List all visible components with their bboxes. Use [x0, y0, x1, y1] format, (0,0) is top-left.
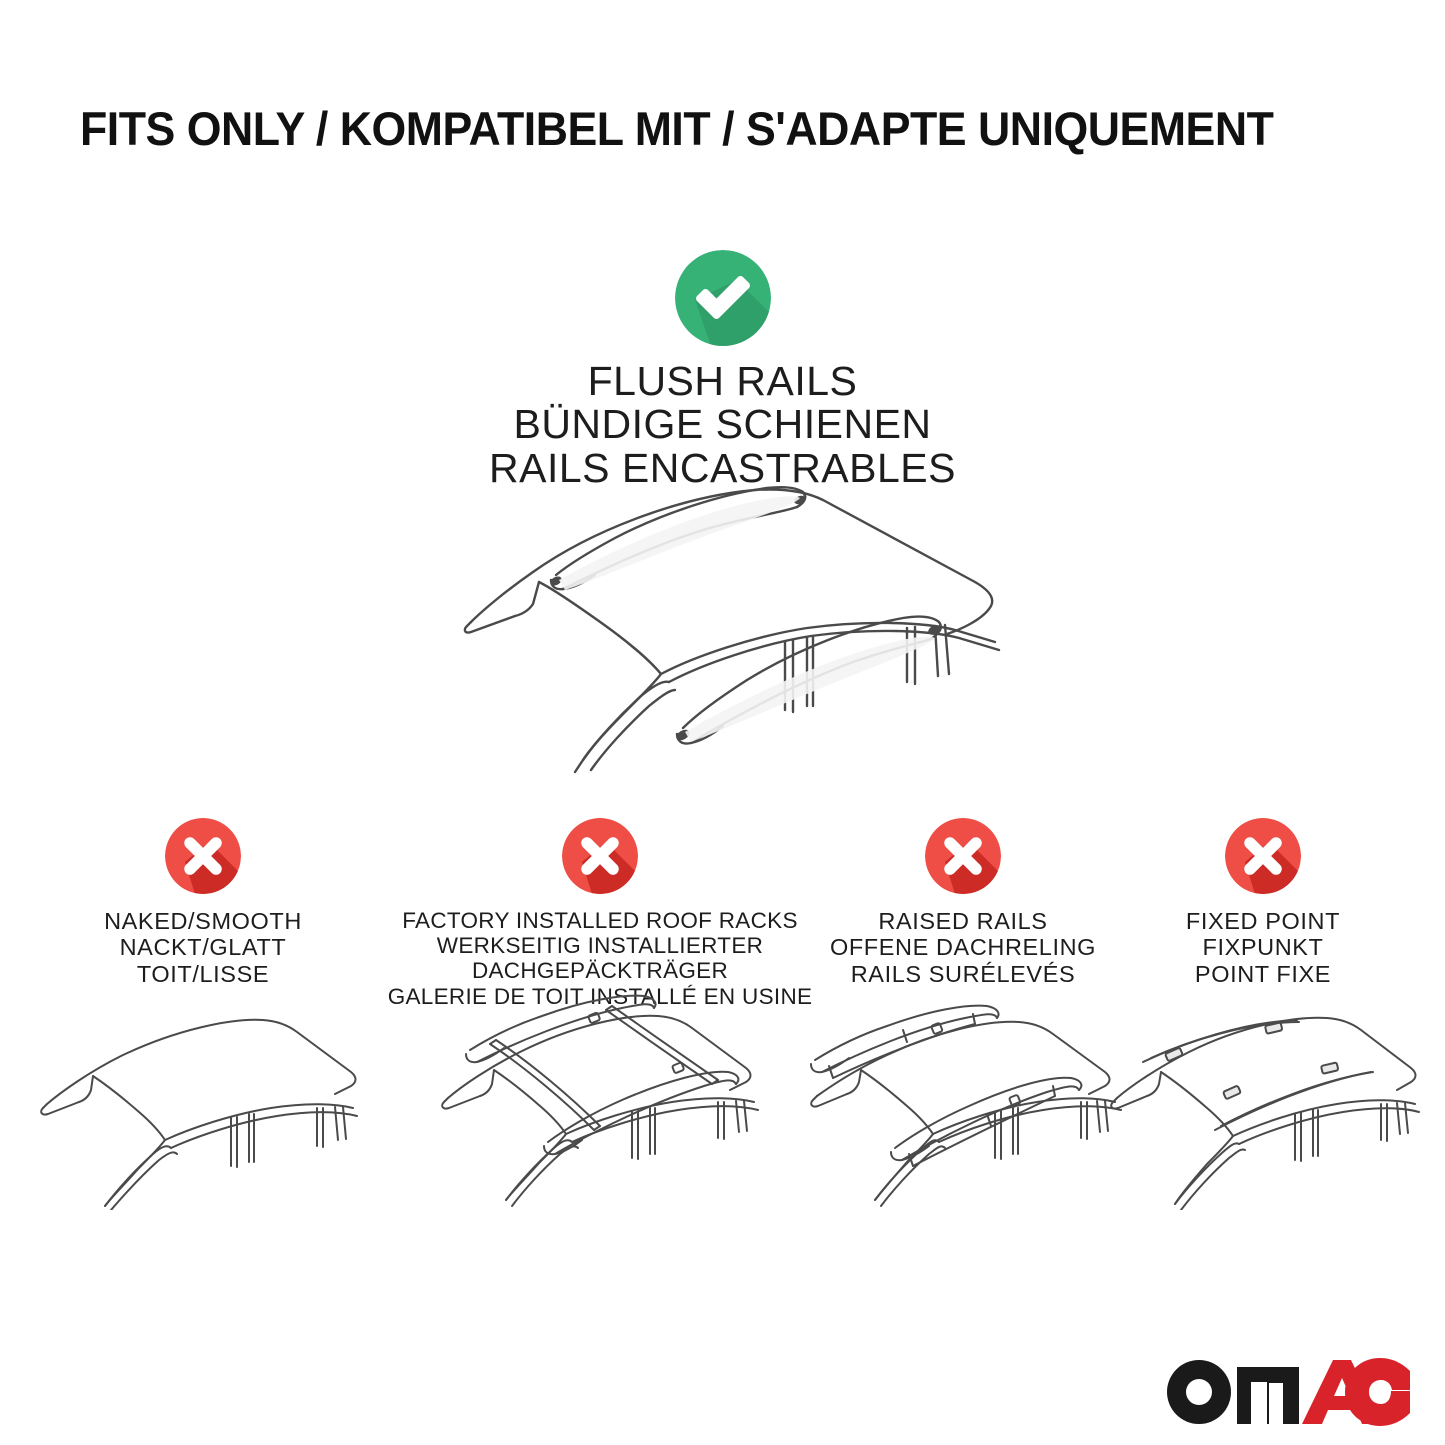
- fitment-infographic: FITS ONLY / KOMPATIBEL MIT / S'ADAPTE UN…: [0, 0, 1445, 1445]
- car-roof-raised-rails-illustration: [795, 1004, 1131, 1219]
- label-line-de-1: WERKSEITIG INSTALLIERTER: [370, 933, 830, 958]
- label-line-en: FIXED POINT: [1118, 908, 1408, 934]
- column-label-naked-smooth: NAKED/SMOOTH NACKT/GLATT TOIT/LISSE: [38, 908, 368, 987]
- omac-logo: [1165, 1351, 1410, 1429]
- incompatible-sections: NAKED/SMOOTH NACKT/GLATT TOIT/LISSE: [0, 818, 1445, 1218]
- incompatible-column-fixed-point: FIXED POINT FIXPUNKT POINT FIXE: [1118, 818, 1408, 987]
- label-line-de: NACKT/GLATT: [38, 934, 368, 960]
- label-line-en: RAISED RAILS: [818, 908, 1108, 934]
- label-line-fr: POINT FIXE: [1118, 961, 1408, 987]
- car-roof-flush-rails-illustration: [455, 470, 1025, 780]
- compatible-label-en: FLUSH RAILS: [0, 360, 1445, 403]
- label-line-de: OFFENE DACHRELING: [818, 934, 1108, 960]
- cross-circle-icon: [1225, 818, 1301, 894]
- incompatible-column-factory-rack: FACTORY INSTALLED ROOF RACKS WERKSEITIG …: [370, 818, 830, 1009]
- incompatible-column-raised-rails: RAISED RAILS OFFENE DACHRELING RAILS SUR…: [818, 818, 1108, 987]
- page-title: FITS ONLY / KOMPATIBEL MIT / S'ADAPTE UN…: [80, 104, 1306, 153]
- compatible-section: FLUSH RAILS BÜNDIGE SCHIENEN RAILS ENCAS…: [0, 250, 1445, 490]
- label-line-de-2: DACHGEPÄCKTRÄGER: [370, 958, 830, 983]
- label-line-fr: RAILS SURÉLEVÉS: [818, 961, 1108, 987]
- cross-circle-icon: [925, 818, 1001, 894]
- cross-circle-icon: [562, 818, 638, 894]
- compatible-label-de: BÜNDIGE SCHIENEN: [0, 403, 1445, 446]
- incompatible-column-naked-smooth: NAKED/SMOOTH NACKT/GLATT TOIT/LISSE: [38, 818, 368, 987]
- cross-circle-icon: [165, 818, 241, 894]
- label-line-de: FIXPUNKT: [1118, 934, 1408, 960]
- label-line-en: NAKED/SMOOTH: [38, 908, 368, 934]
- check-circle-icon: [675, 250, 771, 346]
- car-roof-naked-smooth-illustration: [35, 1014, 371, 1215]
- column-label-fixed-point: FIXED POINT FIXPUNKT POINT FIXE: [1118, 908, 1408, 987]
- car-roof-fixed-point-illustration: [1105, 1014, 1421, 1215]
- label-line-fr: TOIT/LISSE: [38, 961, 368, 987]
- label-line-en: FACTORY INSTALLED ROOF RACKS: [370, 908, 830, 933]
- car-roof-factory-rack-illustration: [426, 990, 774, 1215]
- column-label-raised-rails: RAISED RAILS OFFENE DACHRELING RAILS SUR…: [818, 908, 1108, 987]
